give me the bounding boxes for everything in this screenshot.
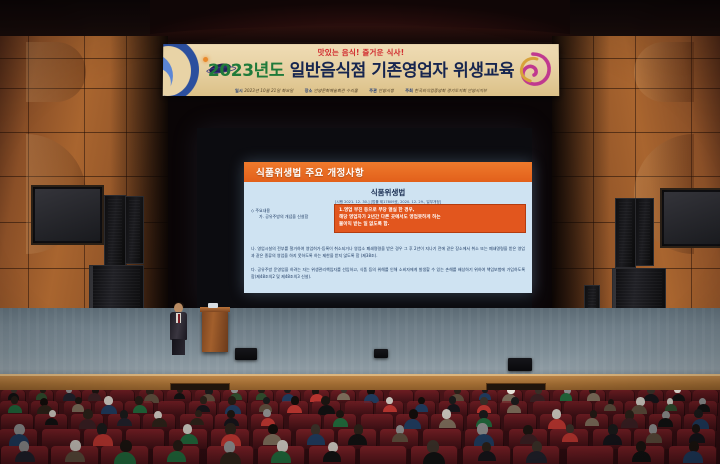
banner-place-label: 장소 <box>305 88 313 93</box>
audience-shoulders <box>632 451 651 462</box>
left-speaker-top-b <box>125 196 144 264</box>
podium-laptop <box>208 303 218 308</box>
audience-member <box>291 396 299 404</box>
highlight-line-3: 불이익 받는 일 없도록 함. <box>339 222 521 229</box>
audience-member <box>227 410 235 418</box>
audience-shoulders <box>117 418 132 427</box>
slide-body: ◇ 주요내용 가. 공유주방의 개념을 신설함 1.영업 부진 등으로 부당 열… <box>244 205 532 220</box>
left-wall-monitor <box>31 185 104 245</box>
audience-member <box>120 440 131 452</box>
banner-host-label: 주관 <box>369 88 377 93</box>
banner-host-value: 안양시청 <box>378 88 393 93</box>
audience-member <box>173 440 183 451</box>
audience-shoulders <box>72 404 85 411</box>
audience-member <box>336 410 344 419</box>
auditorium-photo: 맛있는 음식! 즐거운 식사! 2023년도 일반음식점 기존영업자 위생교육 … <box>0 0 720 464</box>
floor-monitor-center <box>374 349 388 358</box>
audience-member <box>649 424 658 433</box>
podium <box>202 310 228 352</box>
audience-shoulders <box>646 433 662 442</box>
right-speaker-top-b <box>635 198 654 266</box>
projection-screen: 식품위생법 주요 개정사항 식품위생법 [시행 2021. 12. 30.] [… <box>197 128 532 308</box>
audience-member <box>552 409 561 419</box>
audience-member <box>480 397 488 405</box>
slide-paragraph-3: 다. 공유주방 운영업을 하려는 자는 위생관리책임자를 선임하고, 식품 등의… <box>251 267 525 280</box>
audience-shoulders <box>65 451 84 462</box>
banner-date-value: 2023년 10월 21일 화요일 <box>244 88 293 93</box>
audience-member <box>268 424 278 435</box>
banner-main-title: 일반음식점 기존영업자 위생교육 <box>290 61 515 81</box>
presenter-legs <box>172 339 185 355</box>
audience-shoulders <box>526 451 546 463</box>
audience-shoulders <box>348 434 367 445</box>
left-speaker-top-a <box>104 195 126 267</box>
banner-year: 2023년도 <box>208 61 284 81</box>
floor-monitor-left <box>235 348 257 360</box>
slide-highlight-box: 1.영업 부진 등으로 부당 열실 한 경우, 해당 영업자가 2년간 다른 곳… <box>334 204 526 233</box>
presentation-slide: 식품위생법 주요 개정사항 식품위생법 [시행 2021. 12. 30.] [… <box>244 162 532 293</box>
audience-member <box>183 424 192 434</box>
audience-shoulders <box>683 451 703 463</box>
slide-subtitle: 식품위생법 <box>244 187 532 198</box>
audience-seating: {} <box>0 390 720 464</box>
audience-member <box>228 396 236 405</box>
theater-seat <box>567 446 614 464</box>
audience-member <box>135 396 143 404</box>
banner-footer: 일시 2023년 10월 21일 화요일 장소 안양문화예술회관 수리홀 주관 … <box>163 88 559 94</box>
right-wall-monitor <box>660 188 720 248</box>
audience-shoulders <box>337 393 349 400</box>
audience-member <box>511 397 519 405</box>
banner-org-value: 한국외식업중앙회 경기도지회 안양시지부 <box>414 88 487 93</box>
audience-shoulders <box>152 418 167 427</box>
audience-shoulders <box>63 393 76 400</box>
audience-member <box>75 397 82 404</box>
audience-member <box>321 396 330 405</box>
audience-member <box>647 390 655 394</box>
audience-shoulders <box>133 405 147 413</box>
audience-member <box>427 440 439 453</box>
audience-member <box>83 409 92 419</box>
audience-member <box>97 423 107 434</box>
slide-header-title: 식품위생법 주요 개정사항 <box>256 165 364 179</box>
event-banner: 맛있는 음식! 즐거운 식사! 2023년도 일반음식점 기존영업자 위생교육 … <box>163 44 560 96</box>
audience-shoulders <box>631 405 647 414</box>
audience-member <box>277 440 288 452</box>
audience-member <box>11 396 18 404</box>
audience-member <box>409 409 418 419</box>
audience-shoulders <box>562 433 578 442</box>
audience-member <box>70 440 80 451</box>
audience-shoulders <box>604 404 616 411</box>
audience-member <box>104 396 112 405</box>
audience-member <box>477 423 488 434</box>
audience-member <box>692 424 701 433</box>
right-speaker-top-a <box>615 198 636 268</box>
audience-shoulders <box>88 393 101 400</box>
audience-member <box>195 410 202 418</box>
audience-shoulders <box>15 451 35 462</box>
audience-shoulders <box>560 393 573 400</box>
highlight-line-2: 해당 영업자가 2년간 다른 곳에서도 영업못하게 하는 <box>339 215 521 222</box>
banner-org-label: 주최 <box>405 88 413 93</box>
highlight-line-1: 1.영업 부진 등으로 부당 열실 한 경우, <box>339 208 521 215</box>
audience-member <box>263 397 270 404</box>
audience-shoulders <box>93 434 113 445</box>
banner-place-value: 안양문화예술회관 수리홀 <box>314 88 358 93</box>
audience-shoulders <box>392 433 408 442</box>
audience-member <box>590 410 598 418</box>
audience-member <box>418 397 425 404</box>
audience-member <box>225 423 235 434</box>
slide-paragraph-2: 나. 영업시설의 전부를 철거하여 영업허가·등록이 취소되거나 영업소 폐쇄명… <box>251 246 525 259</box>
presenter <box>170 303 187 355</box>
theater-seat <box>360 446 407 464</box>
audience-member <box>19 441 29 452</box>
floor-monitor-right <box>508 358 532 371</box>
audience-member <box>442 409 451 419</box>
audience-shoulders <box>658 418 673 427</box>
audience-member <box>449 396 456 404</box>
audience-member <box>224 441 235 453</box>
audience-shoulders <box>603 434 622 445</box>
audience-shoulders <box>621 418 638 428</box>
audience-member <box>200 396 207 404</box>
slide-header: 식품위생법 주요 개정사항 <box>244 162 532 182</box>
audience-shoulders <box>174 393 185 399</box>
banner-date-label: 일시 <box>235 88 243 93</box>
banner-title: 2023년도 일반음식점 기존영업자 위생교육 <box>163 56 559 81</box>
